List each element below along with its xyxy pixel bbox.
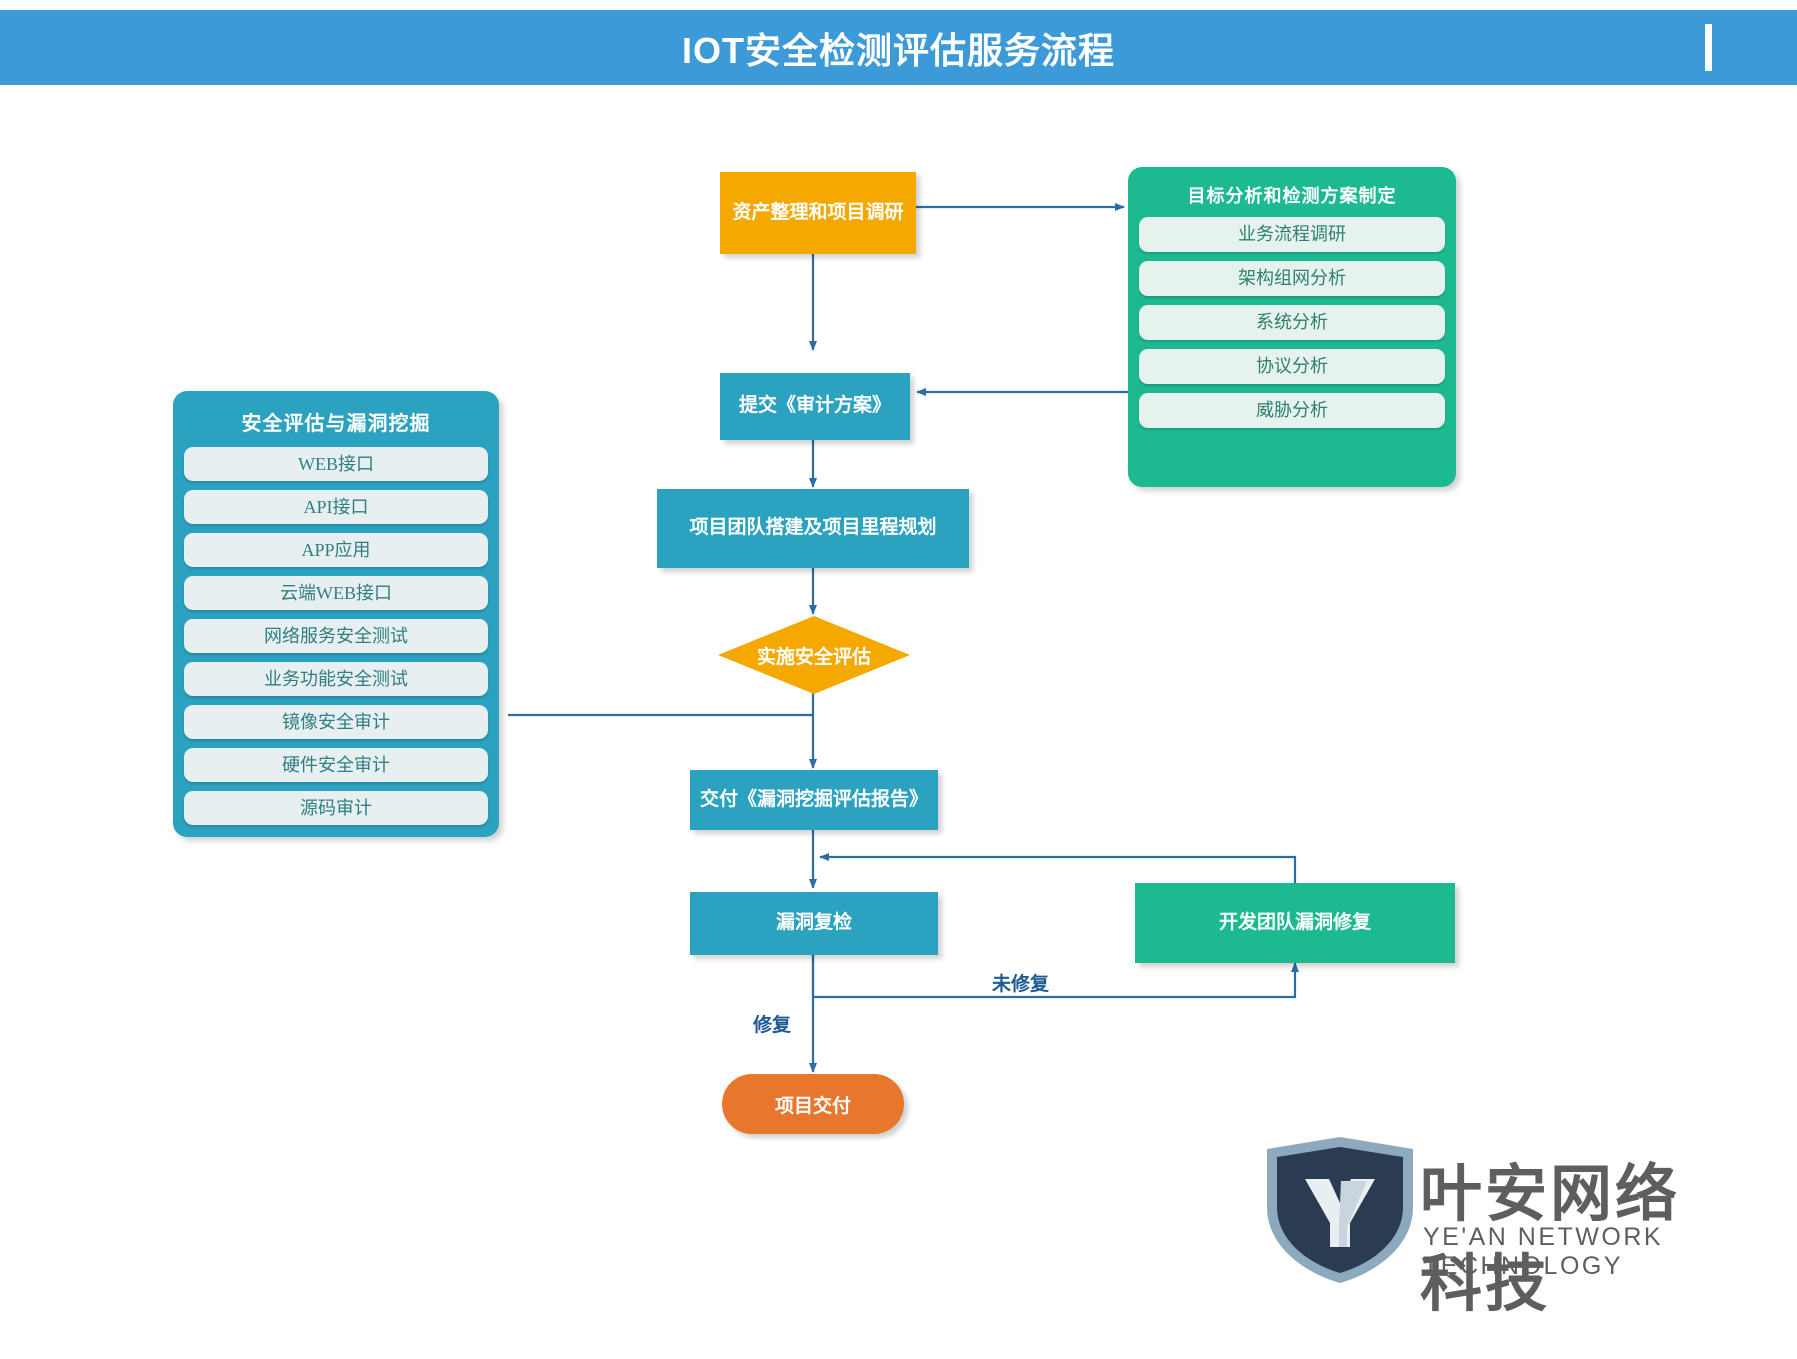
node-dev-team-fix[interactable]: 开发团队漏洞修复 [1135, 883, 1455, 963]
list-item[interactable]: 网络服务安全测试 [184, 619, 488, 653]
node-submit-audit-plan[interactable]: 提交《审计方案》 [720, 373, 910, 440]
watermark-en-text: YE'AN NETWORK TECHNOLOGY [1423, 1223, 1715, 1281]
node-deliver-report[interactable]: 交付《漏洞挖掘评估报告》 [690, 770, 938, 830]
panel-target-analysis: 目标分析和检测方案制定 业务流程调研 架构组网分析 系统分析 协议分析 威胁分析 [1128, 167, 1456, 487]
shield-icon [1255, 1135, 1425, 1285]
node-team-milestone[interactable]: 项目团队搭建及项目里程规划 [657, 489, 969, 568]
edge-label-fixed: 修复 [753, 1010, 791, 1037]
list-item[interactable]: 源码审计 [184, 791, 488, 825]
list-item[interactable]: API接口 [184, 490, 488, 524]
flowchart-canvas: IOT安全检测评估服务流程 [0, 0, 1797, 1359]
node-execute-assessment-label: 实施安全评估 [718, 616, 910, 694]
header-accent-bar [1705, 24, 1712, 71]
page-title: IOT安全检测评估服务流程 [0, 10, 1797, 85]
panel-security-assessment-title: 安全评估与漏洞挖掘 [184, 407, 488, 436]
list-item[interactable]: 威胁分析 [1139, 393, 1445, 428]
node-execute-assessment[interactable]: 实施安全评估 [718, 616, 910, 694]
panel-security-assessment: 安全评估与漏洞挖掘 WEB接口 API接口 APP应用 云端WEB接口 网络服务… [173, 391, 499, 837]
edge-label-not-fixed: 未修复 [992, 969, 1049, 996]
list-item[interactable]: 协议分析 [1139, 349, 1445, 384]
panel-target-analysis-title: 目标分析和检测方案制定 [1139, 182, 1445, 208]
list-item[interactable]: 架构组网分析 [1139, 261, 1445, 296]
list-item[interactable]: 业务功能安全测试 [184, 662, 488, 696]
list-item[interactable]: 业务流程调研 [1139, 217, 1445, 252]
list-item[interactable]: APP应用 [184, 533, 488, 567]
list-item[interactable]: 云端WEB接口 [184, 576, 488, 610]
list-item[interactable]: 系统分析 [1139, 305, 1445, 340]
list-item[interactable]: 镜像安全审计 [184, 705, 488, 739]
node-project-delivery[interactable]: 项目交付 [722, 1074, 904, 1134]
list-item[interactable]: WEB接口 [184, 447, 488, 481]
node-asset-survey[interactable]: 资产整理和项目调研 [720, 172, 916, 254]
node-vuln-recheck[interactable]: 漏洞复检 [690, 892, 938, 955]
list-item[interactable]: 硬件安全审计 [184, 748, 488, 782]
watermark-logo: 叶安网络科技 YE'AN NETWORK TECHNOLOGY [1255, 1135, 1715, 1295]
